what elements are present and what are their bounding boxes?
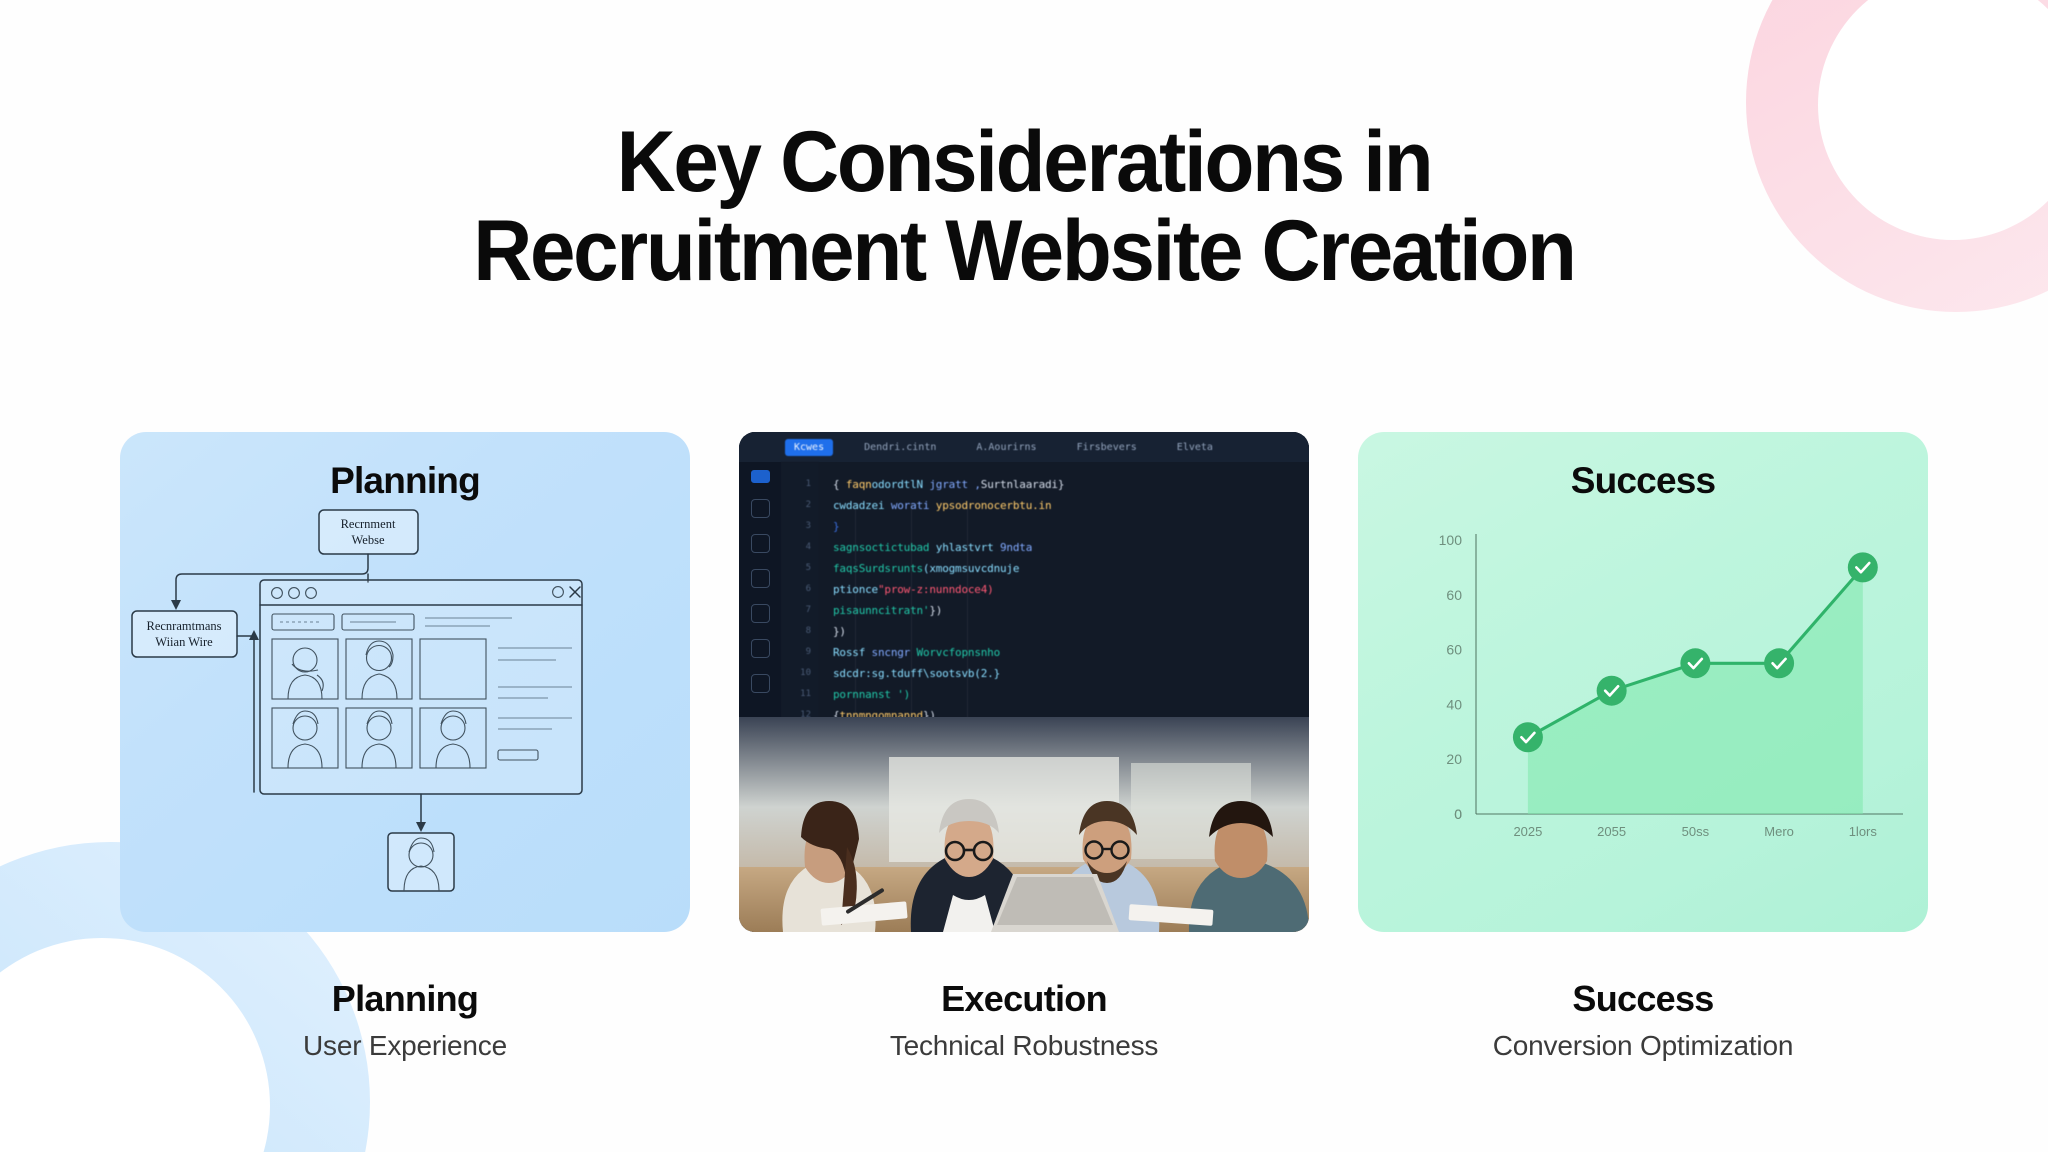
- panel-planning-heading: Planning: [120, 460, 690, 502]
- panel-success-heading: Success: [1358, 460, 1928, 502]
- line-number: 8: [781, 621, 811, 642]
- extensions-icon[interactable]: [751, 604, 770, 623]
- line-number: 9: [781, 642, 811, 663]
- caption-planning-subtitle: User Experience: [120, 1030, 690, 1062]
- flow-node-root-line1: Recrnment: [341, 517, 396, 531]
- code-line: { faqnodordtlN jgratt ,Surtnlaaradi}: [833, 474, 1309, 495]
- panel-success[interactable]: Success 0204060601002025205550ssMero1lor…: [1358, 432, 1928, 932]
- marker-circle: [1848, 552, 1878, 582]
- explorer-icon[interactable]: [751, 470, 770, 483]
- page-title: Key Considerations in Recruitment Websit…: [51, 118, 1997, 297]
- y-axis-origin-label: 0: [1454, 806, 1462, 822]
- line-number: 7: [781, 600, 811, 621]
- line-number: 3: [781, 516, 811, 537]
- code-line: faqsSurdsrunts(xmogmsuvcdnuje: [833, 558, 1309, 579]
- panel-planning[interactable]: Planning .sk { fill:none; stroke:#2b3a47…: [120, 432, 690, 932]
- caption-success-subtitle: Conversion Optimization: [1358, 1030, 1928, 1062]
- y-axis-tick-label: 60: [1446, 642, 1462, 658]
- debug-icon[interactable]: [751, 569, 770, 588]
- flow-node-left-line1: Recnramtmans: [147, 619, 222, 633]
- line-number: 2: [781, 495, 811, 516]
- line-number: 1: [781, 474, 811, 495]
- line-number: 10: [781, 663, 811, 684]
- editor-tab-2[interactable]: A.Aourirns: [967, 439, 1045, 456]
- line-number: 11: [781, 684, 811, 705]
- code-line: ptionce"prow-z:nunndoce4): [833, 579, 1309, 600]
- column-success: Success 0204060601002025205550ssMero1lor…: [1358, 432, 1928, 1062]
- column-planning: Planning .sk { fill:none; stroke:#2b3a47…: [120, 432, 690, 1062]
- line-number: 6: [781, 579, 811, 600]
- code-line: sdcdr:sg.tduff\sootsvb(2.}: [833, 663, 1309, 684]
- editor-tab-bar: KcwesDendri.cintnA.AourirnsFirsbeversElv…: [739, 432, 1309, 462]
- marker-circle: [1764, 648, 1794, 678]
- team-meeting-photo: [739, 717, 1309, 932]
- y-axis-tick-label: 100: [1439, 532, 1463, 548]
- slide-root: Key Considerations in Recruitment Websit…: [0, 0, 2048, 1152]
- panel-row: Planning .sk { fill:none; stroke:#2b3a47…: [120, 432, 1928, 1062]
- chart-point-marker[interactable]: [1680, 648, 1710, 678]
- marker-circle: [1513, 722, 1543, 752]
- x-axis-tick-label: 2025: [1513, 824, 1542, 839]
- x-axis-tick-label: 1lors: [1849, 824, 1878, 839]
- code-line: pisaunncitratn'}): [833, 600, 1309, 621]
- code-line: cwdadzei worati ypsodronocerbtu.in: [833, 495, 1309, 516]
- x-axis-tick-label: 50ss: [1682, 824, 1710, 839]
- chart-point-marker[interactable]: [1513, 722, 1543, 752]
- x-axis-tick-label: Mero: [1764, 824, 1794, 839]
- code-line: Rossf sncngr Worvcfopnsnho: [833, 642, 1309, 663]
- marker-circle: [1597, 676, 1627, 706]
- code-line: }): [833, 621, 1309, 642]
- caption-success-title: Success: [1358, 978, 1928, 1020]
- column-execution: KcwesDendri.cintnA.AourirnsFirsbeversElv…: [739, 432, 1309, 1062]
- caption-planning: Planning User Experience: [120, 978, 690, 1062]
- remote-icon[interactable]: [751, 639, 770, 658]
- chart-point-marker[interactable]: [1764, 648, 1794, 678]
- line-number: 5: [781, 558, 811, 579]
- page-title-line-2: Recruitment Website Creation: [51, 207, 1997, 296]
- code-line: sagnsoctictubad yhlastvrt 9ndta: [833, 537, 1309, 558]
- chart-point-marker[interactable]: [1597, 676, 1627, 706]
- x-axis-tick-label: 2055: [1597, 824, 1626, 839]
- caption-execution: Execution Technical Robustness: [739, 978, 1309, 1062]
- line-number: 4: [781, 537, 811, 558]
- y-axis-tick-label: 60: [1446, 587, 1462, 603]
- chart-area-fill: [1528, 567, 1863, 814]
- caption-execution-title: Execution: [739, 978, 1309, 1020]
- editor-tab-1[interactable]: Dendri.cintn: [855, 439, 945, 456]
- panel-execution[interactable]: KcwesDendri.cintnA.AourirnsFirsbeversElv…: [739, 432, 1309, 932]
- y-axis-tick-label: 20: [1446, 751, 1462, 767]
- code-line: pornnanst '): [833, 684, 1309, 705]
- laptop: [991, 874, 1119, 932]
- caption-success: Success Conversion Optimization: [1358, 978, 1928, 1062]
- search-icon[interactable]: [751, 499, 770, 518]
- caption-planning-title: Planning: [120, 978, 690, 1020]
- editor-tab-4[interactable]: Elveta: [1168, 439, 1222, 456]
- planning-wireframe-illustration: .sk { fill:none; stroke:#2b3a47; stroke-…: [120, 432, 690, 932]
- marker-circle: [1680, 648, 1710, 678]
- success-line-chart[interactable]: 0204060601002025205550ssMero1lors0: [1358, 432, 1928, 932]
- y-axis-tick-label: 40: [1446, 696, 1462, 712]
- flow-node-root-line2: Webse: [351, 533, 384, 547]
- page-title-line-1: Key Considerations in: [51, 118, 1997, 207]
- editor-tab-0[interactable]: Kcwes: [785, 439, 833, 456]
- chart-point-marker[interactable]: [1848, 552, 1878, 582]
- caption-execution-subtitle: Technical Robustness: [739, 1030, 1309, 1062]
- source-control-icon[interactable]: [751, 534, 770, 553]
- editor-tab-3[interactable]: Firsbevers: [1068, 439, 1146, 456]
- code-line: }: [833, 516, 1309, 537]
- code-editor: KcwesDendri.cintnA.AourirnsFirsbeversElv…: [739, 432, 1309, 932]
- flow-node-left-line2: Wiian Wire: [155, 635, 213, 649]
- account-icon[interactable]: [751, 674, 770, 693]
